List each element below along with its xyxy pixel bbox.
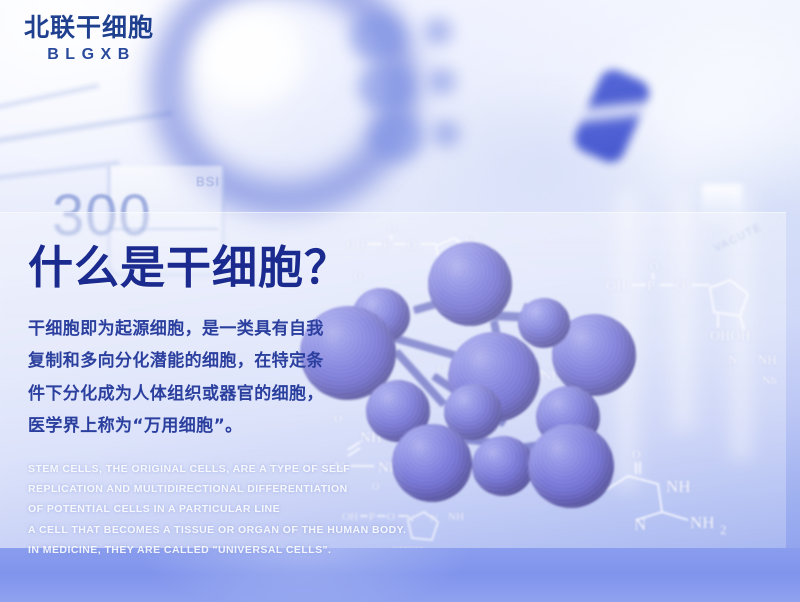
poster-canvas: 300 BSI VACUTE OH P O O N OHOH O O N NH: [0, 0, 800, 602]
beaker-brand-label: BSI: [196, 174, 220, 189]
body-cn-line: 件下分化成为人体组织或器官的细胞，: [28, 378, 340, 411]
blurred-vial-top: [368, 112, 424, 162]
logo-english-abbr: BLGXB: [24, 46, 154, 64]
body-cn-line: 医学界上称为“万用细胞”。: [28, 410, 340, 443]
body-en-line: STEM CELLS, THE ORIGINAL CELLS, ARE A TY…: [28, 459, 388, 479]
body-en-line: IN MEDICINE, THEY ARE CALLED "UNIVERSAL …: [28, 540, 388, 560]
text-content-block: 什么是干细胞？ 干细胞即为起源细胞，是一类具有自我 复制和多向分化潜能的细胞，在…: [28, 244, 388, 560]
body-en-line: REPLICATION AND MULTIDIRECTIONAL DIFFERE…: [28, 479, 388, 499]
page-title: 什么是干细胞？: [28, 244, 388, 293]
brand-logo[interactable]: 北联干细胞 BLGXB: [24, 14, 154, 64]
body-cn-line: 复制和多向分化潜能的细胞，在特定条: [28, 345, 340, 378]
body-paragraph-english: STEM CELLS, THE ORIGINAL CELLS, ARE A TY…: [28, 459, 388, 560]
body-cn-line: 干细胞即为起源细胞，是一类具有自我: [28, 313, 340, 346]
blurred-vial-top: [428, 68, 456, 95]
body-paragraph-chinese: 干细胞即为起源细胞，是一类具有自我 复制和多向分化潜能的细胞，在特定条 件下分化…: [28, 313, 340, 444]
blurred-vial-top: [424, 18, 452, 45]
body-en-line: OF POTENTIAL CELLS IN A PARTICULAR LINE: [28, 499, 388, 519]
logo-chinese-name: 北联干细胞: [24, 14, 154, 43]
blurred-ring-core: [196, 6, 304, 106]
blurred-vial-top: [358, 62, 414, 112]
blurred-vial-top: [432, 120, 460, 147]
body-en-line: A CELL THAT BECOMES A TISSUE OR ORGAN OF…: [28, 520, 388, 540]
blurred-vial-top: [350, 12, 406, 62]
